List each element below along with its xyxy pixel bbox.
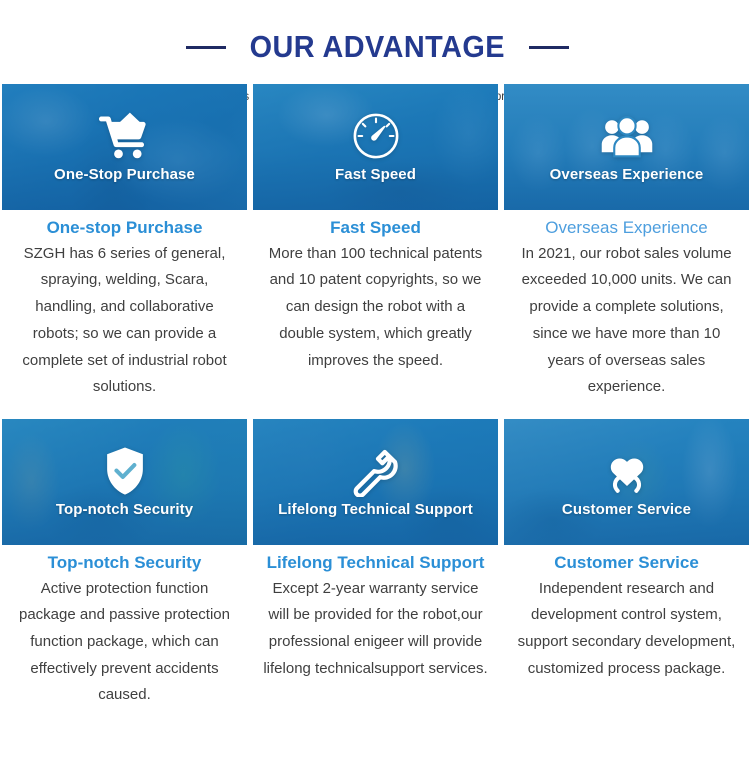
card-body: Fast SpeedMore than 100 technical patent… — [253, 210, 498, 374]
banner-label: Fast Speed — [329, 166, 422, 183]
banner-content: Customer Service — [504, 419, 749, 545]
advantage-card[interactable]: Top-notch SecurityTop-notch SecurityActi… — [2, 419, 247, 709]
card-heading: Top-notch Security — [6, 552, 243, 574]
shopping-cart-icon — [99, 110, 151, 162]
card-heading: Fast Speed — [257, 217, 494, 239]
banner-label: Customer Service — [556, 501, 697, 518]
banner-label: Overseas Experience — [544, 166, 710, 183]
card-body: Lifelong Technical SupportExcept 2-year … — [253, 545, 498, 683]
card-banner[interactable]: One-Stop Purchase — [2, 84, 247, 210]
card-description: Independent research and development con… — [508, 576, 745, 683]
card-description: Except 2-year warranty service will be p… — [257, 576, 494, 683]
heart-in-hands-icon — [601, 445, 653, 497]
speedometer-icon — [350, 110, 402, 162]
page-title: OUR ADVANTAGE — [250, 31, 505, 64]
card-body: One-stop PurchaseSZGH has 6 series of ge… — [2, 210, 247, 401]
title-row: OUR ADVANTAGE — [0, 10, 755, 84]
card-heading: Customer Service — [508, 552, 745, 574]
title-rule-left — [186, 46, 226, 49]
advantage-card[interactable]: One-Stop PurchaseOne-stop PurchaseSZGH h… — [2, 84, 247, 401]
card-banner[interactable]: Lifelong Technical Support — [253, 419, 498, 545]
banner-label: Lifelong Technical Support — [272, 501, 479, 518]
advantage-grid: One-Stop PurchaseOne-stop PurchaseSZGH h… — [2, 84, 751, 709]
title-rule-right — [529, 46, 569, 49]
card-banner[interactable]: Customer Service — [504, 419, 749, 545]
advantage-card[interactable]: Customer ServiceCustomer ServiceIndepend… — [504, 419, 749, 709]
card-description: Active protection function package and p… — [6, 576, 243, 709]
card-banner[interactable]: Top-notch Security — [2, 419, 247, 545]
advantage-card[interactable]: Lifelong Technical SupportLifelong Techn… — [253, 419, 498, 709]
card-body: Overseas ExperienceIn 2021, our robot sa… — [504, 210, 749, 401]
banner-label: One-Stop Purchase — [48, 166, 201, 183]
banner-content: Lifelong Technical Support — [253, 419, 498, 545]
shield-check-icon — [99, 445, 151, 497]
banner-content: Top-notch Security — [2, 419, 247, 545]
advantage-card[interactable]: Overseas ExperienceOverseas ExperienceIn… — [504, 84, 749, 401]
card-banner[interactable]: Fast Speed — [253, 84, 498, 210]
banner-label: Top-notch Security — [50, 501, 199, 518]
card-body: Customer ServiceIndependent research and… — [504, 545, 749, 683]
card-heading: Lifelong Technical Support — [257, 552, 494, 574]
banner-content: One-Stop Purchase — [2, 84, 247, 210]
people-group-icon — [601, 110, 653, 162]
card-description: SZGH has 6 series of general, spraying, … — [6, 241, 243, 401]
wrench-icon — [350, 445, 402, 497]
banner-content: Fast Speed — [253, 84, 498, 210]
card-body: Top-notch SecurityActive protection func… — [2, 545, 247, 709]
banner-content: Overseas Experience — [504, 84, 749, 210]
card-banner[interactable]: Overseas Experience — [504, 84, 749, 210]
card-description: In 2021, our robot sales volume exceeded… — [508, 241, 745, 401]
card-description: More than 100 technical patents and 10 p… — [257, 241, 494, 374]
card-heading: Overseas Experience — [508, 217, 745, 239]
card-heading: One-stop Purchase — [6, 217, 243, 239]
advantage-card[interactable]: Fast SpeedFast SpeedMore than 100 techni… — [253, 84, 498, 401]
